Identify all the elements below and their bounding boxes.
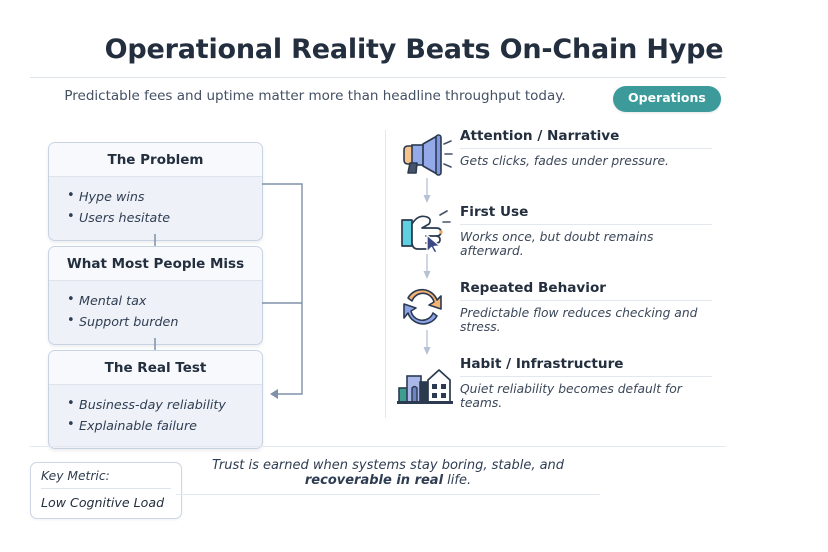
column-divider xyxy=(385,130,386,418)
stage-habit-infrastructure[interactable]: Habit / Infrastructure Quiet reliability… xyxy=(396,356,716,420)
stage-repeated-behavior[interactable]: Repeated Behavior Predictable flow reduc… xyxy=(396,280,716,344)
stage-title: Attention / Narrative xyxy=(460,128,712,149)
stage-text: Repeated Behavior Predictable flow reduc… xyxy=(460,280,712,334)
list-item: Hype wins xyxy=(67,189,250,204)
trust-prefix: Trust is earned when systems stay boring… xyxy=(212,458,564,473)
flow-box-body: Mental tax Support burden xyxy=(49,281,262,344)
stage-description: Gets clicks, fades under pressure. xyxy=(460,149,712,168)
page-subtitle: Predictable fees and uptime matter more … xyxy=(30,88,600,104)
list-item: Explainable failure xyxy=(67,418,250,433)
flow-box-title: The Problem xyxy=(49,143,262,177)
slide-canvas: Operational Reality Beats On-Chain Hype … xyxy=(0,0,828,552)
list-item: Business-day reliability xyxy=(67,397,250,412)
stage-text: Attention / Narrative Gets clicks, fades… xyxy=(460,128,712,168)
status-badge[interactable]: Operations xyxy=(613,86,721,112)
buildings-icon xyxy=(396,358,454,406)
stage-text: Habit / Infrastructure Quiet reliability… xyxy=(460,356,712,410)
key-metric-label: Key Metric: xyxy=(41,469,171,489)
stage-attention[interactable]: Attention / Narrative Gets clicks, fades… xyxy=(396,128,716,192)
flow-box-body: Hype wins Users hesitate xyxy=(49,177,262,240)
flow-box-title: The Real Test xyxy=(49,351,262,385)
key-metric-card[interactable]: Key Metric: Low Cognitive Load xyxy=(30,462,182,519)
trust-statement: Trust is earned when systems stay boring… xyxy=(176,458,600,495)
stage-title: Repeated Behavior xyxy=(460,280,712,301)
stage-title: Habit / Infrastructure xyxy=(460,356,712,377)
flow-box-body: Business-day reliability Explainable fai… xyxy=(49,385,262,448)
key-metric-value: Low Cognitive Load xyxy=(41,489,171,510)
pointing-hand-cursor-icon xyxy=(396,206,454,254)
cycle-arrows-icon xyxy=(396,282,454,330)
list-item: Mental tax xyxy=(67,293,250,308)
stage-title: First Use xyxy=(460,204,712,225)
flow-box-title: What Most People Miss xyxy=(49,247,262,281)
trust-emphasis: recoverable in real xyxy=(305,473,443,488)
flow-box-problem[interactable]: The Problem Hype wins Users hesitate xyxy=(48,142,263,241)
stage-description: Works once, but doubt remains afterward. xyxy=(460,225,712,258)
stage-description: Predictable flow reduces checking and st… xyxy=(460,301,712,334)
title-divider xyxy=(30,77,726,78)
flow-box-miss[interactable]: What Most People Miss Mental tax Support… xyxy=(48,246,263,345)
stage-text: First Use Works once, but doubt remains … xyxy=(460,204,712,258)
list-item: Users hesitate xyxy=(67,210,250,225)
feedback-loop-connector xyxy=(262,178,320,404)
megaphone-icon xyxy=(396,130,454,178)
stage-first-use[interactable]: First Use Works once, but doubt remains … xyxy=(396,204,716,268)
footer-divider xyxy=(30,446,726,447)
flow-box-realtest[interactable]: The Real Test Business-day reliability E… xyxy=(48,350,263,449)
list-item: Support burden xyxy=(67,314,250,329)
trust-suffix: life. xyxy=(443,473,471,488)
stage-description: Quiet reliability becomes default for te… xyxy=(460,377,712,410)
page-title: Operational Reality Beats On-Chain Hype xyxy=(0,34,828,65)
